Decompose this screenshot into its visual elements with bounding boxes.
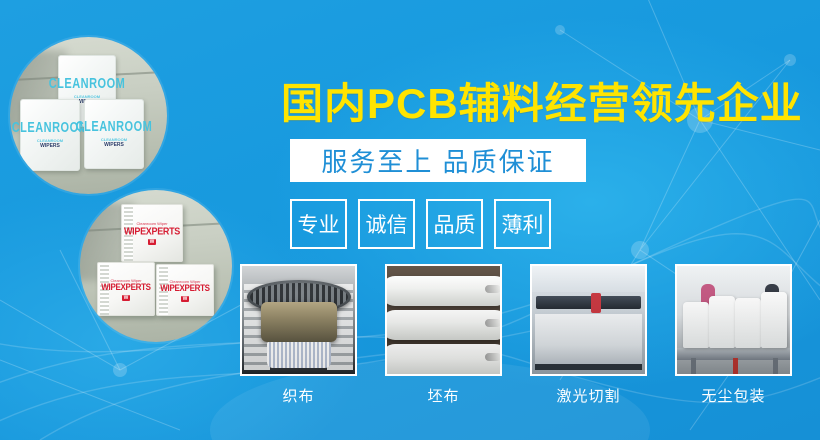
cleanroom-bag-right: CLEANROOM CLEANROOM WIPERS [84,99,144,169]
cleanroom-bag-line3: WIPERS [40,143,60,149]
fabric-roll [385,344,502,376]
cleanroom-bag-line3: WIPERS [104,142,124,148]
tag-label: 专业 [298,209,340,239]
packed-wipes-bale [761,292,787,348]
product-photo-cleanroom-wipes: CLEANROOM CLEANROOM WIPERS CLEANROOM CLE… [10,37,167,194]
laser-rail [535,364,642,370]
table-leg [773,358,778,374]
fabric-roll [385,276,502,306]
subtitle-text: 服务至上 品质保证 [321,142,554,179]
tag-box-chengxin[interactable]: 诚信 [358,199,415,249]
wipexperts-brand: WIPEXPERTS [101,282,150,292]
cleanroom-bag-brand: CLEANROOM [49,75,126,91]
wipexperts-brand: WIPEXPERTS [160,283,209,293]
tag-box-boli[interactable]: 薄利 [494,199,551,249]
tag-box-pinzhi[interactable]: 品质 [426,199,483,249]
table-leg [733,358,738,374]
tag-label: 诚信 [366,209,408,239]
tag-label: 品质 [434,209,476,239]
knitting-machine-photo [240,264,357,376]
wipexperts-carton-right: Cleanroom Wiper WIPEXPERTS W [156,264,214,316]
cleanroom-bag-brand: CLEANROOM [76,118,153,134]
cleanroom-packing-photo [675,264,792,376]
packed-wipes-bale [683,302,709,348]
thumb-caption: 激光切割 [530,385,647,406]
thumb-caption: 坯布 [385,385,502,406]
fabric-rolls-photo [385,264,502,376]
process-thumb-cleanroom-packing[interactable]: 无尘包装 [675,264,792,406]
thumb-caption: 无尘包装 [675,385,792,406]
process-thumb-laser-cutting[interactable]: 激光切割 [530,264,647,406]
table-leg [691,358,696,374]
keyword-tag-row: 专业 诚信 品质 薄利 [290,199,551,249]
cleanroom-packing-scene [677,266,790,374]
process-thumbnail-strip: 织布 坯布 激光切割 [240,264,792,406]
knitting-machine-body [261,302,337,342]
headline-title: 国内PCB辅料经营领先企业 [281,70,803,131]
laser-backwall [532,266,645,292]
cleanroom-bag-left: CLEANROOM CLEANROOM WIPERS [20,99,80,171]
knitted-fabric-tube [267,342,331,368]
packed-wipes-bale [735,298,761,348]
promo-banner: CLEANROOM CLEANROOM WIPERS CLEANROOM CLE… [0,0,820,440]
process-thumb-greige-fabric[interactable]: 坯布 [385,264,502,406]
knitting-machine-scene [242,266,355,374]
tag-box-zhuanye[interactable]: 专业 [290,199,347,249]
product-photo-wipexperts: Cleanroom Wiper WIPEXPERTS W Cleanroom W… [80,190,232,342]
fabric-rolls-scene [387,266,500,374]
wipexperts-mark: W [122,295,131,301]
wipexperts-brand: WIPEXPERTS [124,226,180,237]
packed-wipes-bale [709,296,735,348]
tag-label: 薄利 [502,209,544,239]
subtitle-bar: 服务至上 品质保证 [290,139,586,182]
process-thumb-weaving[interactable]: 织布 [240,264,357,406]
laser-cutting-photo [530,264,647,376]
laser-cutting-bed [535,314,642,366]
wipexperts-mark: W [181,296,190,302]
wipexperts-mark: W [148,239,157,245]
wipexperts-carton-top: Cleanroom Wiper WIPEXPERTS W [121,204,183,262]
fabric-roll [385,310,502,340]
laser-cutter-scene [532,266,645,374]
thumb-caption: 织布 [240,385,357,406]
wipexperts-carton-left: Cleanroom Wiper WIPEXPERTS W [97,262,155,316]
laser-cutting-head [591,293,601,313]
laser-gantry-bar [536,296,641,309]
